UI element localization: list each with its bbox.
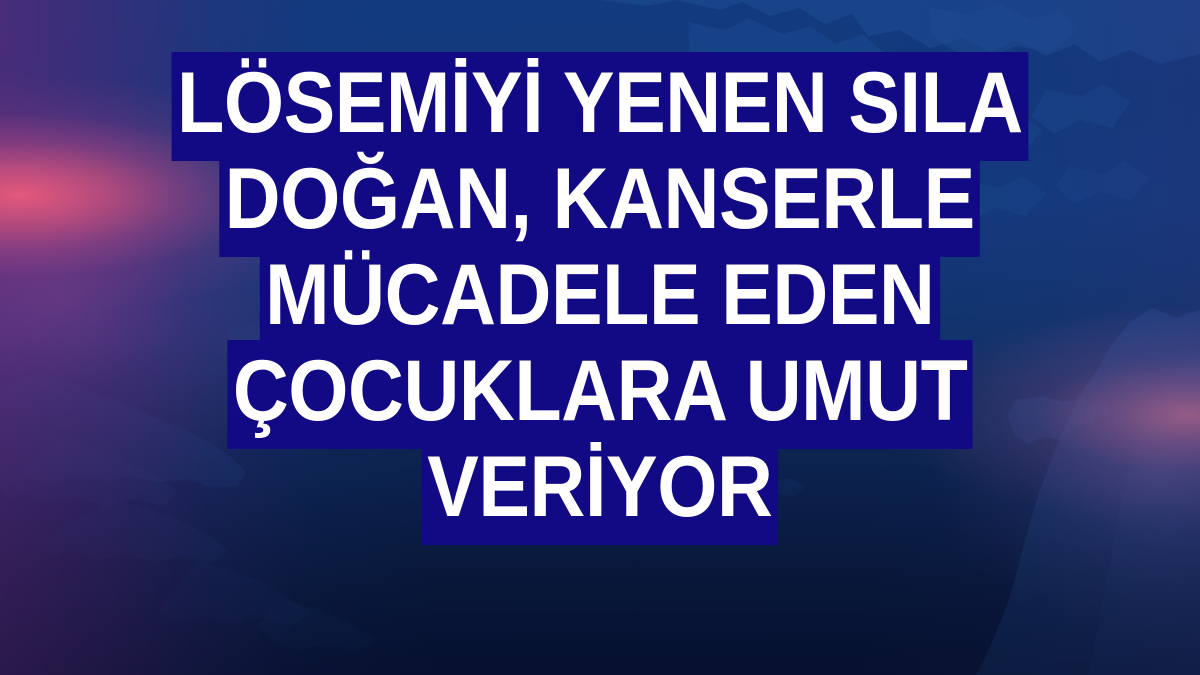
headline-line-3: MÜCADELE EDEN [216,244,984,340]
headline-line-4: ÇOCUKLARA UMUT [180,340,1020,436]
headline-line-3-text: MÜCADELE EDEN [260,244,940,353]
headline-line-1: LÖSEMİYİ YENEN SILA [118,52,1082,148]
headline-line-4-text: ÇOCUKLARA UMUT [227,340,972,449]
headline-line-2-text: DOĞAN, KANSERLE [220,148,981,257]
headline-line-5: VERİYOR [396,436,804,532]
headline-line-1-text: LÖSEMİYİ YENEN SILA [172,52,1029,161]
headline-block: LÖSEMİYİ YENEN SILA DOĞAN, KANSERLE MÜCA… [0,52,1200,532]
news-banner: LÖSEMİYİ YENEN SILA DOĞAN, KANSERLE MÜCA… [0,0,1200,675]
headline-line-5-text: VERİYOR [422,436,778,545]
headline-line-2: DOĞAN, KANSERLE [171,148,1028,244]
